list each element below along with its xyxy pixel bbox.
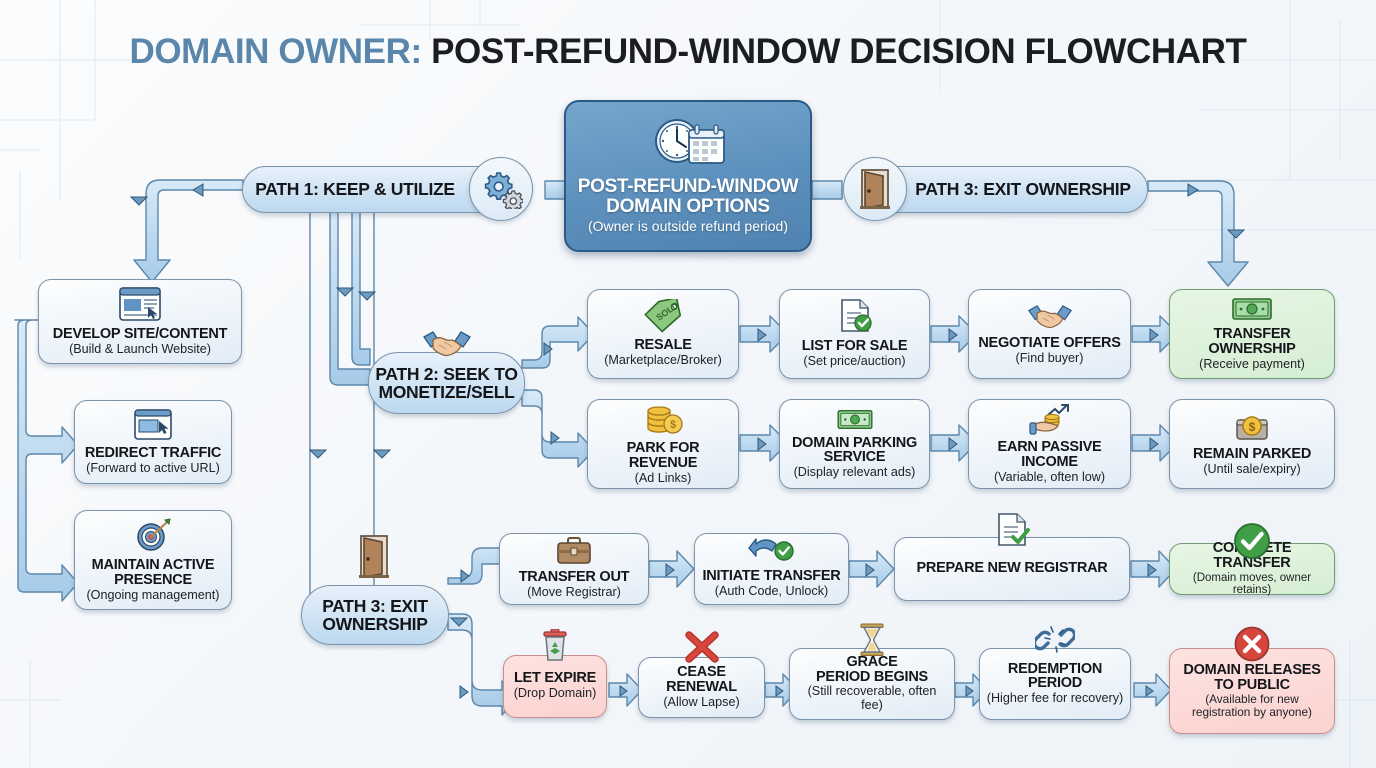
node-domain-releases[interactable]: DOMAIN RELEASES TO PUBLIC (Available for… [1169,648,1335,734]
node-subtitle: (Display relevant ads) [794,466,916,479]
node-grace-period[interactable]: GRACE PERIOD BEGINS (Still recoverable, … [789,648,955,720]
handshake-icon [1027,301,1073,335]
trash-recycle-icon [538,629,572,667]
node-subtitle: (Ad Links) [635,472,692,485]
node-subtitle: (Allow Lapse) [663,696,739,709]
hub-subtitle: (Owner is outside refund period) [588,219,788,234]
red-x-icon [683,630,721,668]
node-title: LIST FOR SALE [802,339,908,354]
node-subtitle: (Auth Code, Unlock) [715,585,828,598]
node-title: REDIRECT TRAFFIC [85,446,221,461]
node-subtitle: (Find buyer) [1016,352,1084,365]
path-pill-keep-utilize[interactable]: PATH 1: KEEP & UTILIZE [242,166,504,213]
node-park-for-revenue[interactable]: $ PARK FOR REVENUE (Ad Links) [587,399,739,489]
gears-icon [469,157,533,221]
node-subtitle: (Higher fee for recovery) [987,692,1123,705]
node-subtitle: (Domain moves, owner retains) [1176,572,1328,596]
node-earn-passive-income[interactable]: EARN PASSIVE INCOME (Variable, often low… [968,399,1131,489]
coins-icon: $ [642,402,684,440]
document-check-icon [836,298,874,338]
node-title: EARN PASSIVE INCOME [975,440,1124,470]
node-domain-parking-service[interactable]: DOMAIN PARKING SERVICE (Display relevant… [779,399,930,489]
node-list-for-sale[interactable]: LIST FOR SALE (Set price/auction) [779,289,930,379]
node-subtitle: (Marketplace/Broker) [604,354,722,367]
svg-text:$: $ [1249,420,1256,434]
node-initiate-transfer[interactable]: INITIATE TRANSFER (Auth Code, Unlock) [694,533,849,605]
hub-title: POST-REFUND-WINDOW DOMAIN OPTIONS [578,177,798,217]
open-door-icon [355,533,393,586]
node-title: NEGOTIATE OFFERS [978,336,1120,351]
node-subtitle: (Receive payment) [1199,358,1305,371]
check-circle-icon [1232,521,1272,565]
money-box-icon: $ [1234,410,1270,446]
hand-coins-growth-icon [1028,403,1072,439]
path-pill-exit-ownership-top[interactable]: PATH 3: EXIT OWNERSHIP [872,166,1148,213]
page-title-rest: POST-REFUND-WINDOW DECISION FLOWCHART [422,32,1247,71]
node-transfer-ownership[interactable]: TRANSFER OWNERSHIP (Receive payment) [1169,289,1335,379]
page-title: DOMAIN OWNER: POST-REFUND-WINDOW DECISIO… [0,32,1376,72]
node-subtitle: (Build & Launch Website) [69,343,211,356]
path-pill-exit-ownership-top-label: PATH 3: EXIT OWNERSHIP [915,180,1130,198]
hourglass-icon [858,623,886,661]
node-subtitle: (Ongoing management) [86,589,219,602]
node-let-expire[interactable]: LET EXPIRE (Drop Domain) [503,655,607,718]
clock-calendar-icon [649,116,727,177]
node-title: PARK FOR REVENUE [594,441,732,471]
node-title: CEASE RENEWAL [645,665,758,695]
node-complete-transfer[interactable]: COMPLETE TRANSFER (Domain moves, owner r… [1169,543,1335,595]
svg-text:$: $ [670,419,676,431]
node-redemption-period[interactable]: REDEMPTION PERIOD (Higher fee for recove… [979,648,1131,720]
node-title: PREPARE NEW REGISTRAR [916,561,1107,576]
node-subtitle: (Available for new registration by anyon… [1192,693,1312,718]
node-title: MAINTAIN ACTIVE PRESENCE [92,558,215,588]
browser-redirect-icon [133,408,173,445]
node-title: LET EXPIRE [514,671,596,686]
broken-chain-icon [1035,623,1075,659]
page-title-highlight: DOMAIN OWNER: [129,32,421,71]
node-prepare-new-registrar[interactable]: PREPARE NEW REGISTRAR [894,537,1130,601]
node-title: INITIATE TRANSFER [702,569,840,584]
path-pill-exit-ownership-bottom-label: PATH 3: EXIT OWNERSHIP [322,597,428,633]
flowchart-canvas: DOMAIN OWNER: POST-REFUND-WINDOW DECISIO… [0,0,1376,768]
x-circle-icon [1232,624,1272,668]
node-title: REMAIN PARKED [1193,447,1311,462]
node-remain-parked[interactable]: $ REMAIN PARKED (Until sale/expiry) [1169,399,1335,489]
document-check-icon [993,512,1031,552]
browser-window-icon [118,286,162,326]
node-maintain-presence[interactable]: MAINTAIN ACTIVE PRESENCE (Ongoing manage… [74,510,232,610]
node-subtitle: (Still recoverable, often fee) [796,685,948,712]
node-title: REDEMPTION PERIOD [1008,662,1102,692]
node-title: TRANSFER OWNERSHIP [1176,327,1328,357]
handshake-icon [422,327,472,364]
node-negotiate-offers[interactable]: NEGOTIATE OFFERS (Find buyer) [968,289,1131,379]
target-dart-icon [134,517,172,557]
node-redirect-traffic[interactable]: REDIRECT TRAFFIC (Forward to active URL) [74,400,232,484]
path-pill-exit-ownership-bottom[interactable]: PATH 3: EXIT OWNERSHIP [301,585,449,645]
node-subtitle: (Variable, often low) [994,471,1105,484]
node-cease-renewal[interactable]: CEASE RENEWAL (Allow Lapse) [638,657,765,718]
node-subtitle: (Move Registrar) [527,586,621,599]
banknote-icon [836,408,874,435]
path-pill-monetize-sell-label: PATH 2: SEEK TO MONETIZE/SELL [375,365,517,401]
transfer-arrow-check-icon [748,538,796,568]
node-subtitle: (Set price/auction) [803,355,905,368]
node-transfer-out[interactable]: TRANSFER OUT (Move Registrar) [499,533,649,605]
path-pill-keep-utilize-label: PATH 1: KEEP & UTILIZE [255,180,455,198]
node-resale[interactable]: SOLD RESALE (Marketplace/Broker) [587,289,739,379]
node-title: DEVELOP SITE/CONTENT [53,327,227,342]
sold-tag-icon: SOLD [642,299,684,337]
node-develop-site[interactable]: DEVELOP SITE/CONTENT (Build & Launch Web… [38,279,242,364]
node-title: RESALE [634,338,691,353]
node-title: TRANSFER OUT [519,570,630,585]
suitcase-icon [555,537,593,569]
open-door-icon [843,157,907,221]
node-subtitle: (Until sale/expiry) [1203,463,1300,476]
node-title: DOMAIN PARKING SERVICE [792,436,917,466]
node-subtitle: (Forward to active URL) [86,462,220,475]
node-subtitle: (Drop Domain) [514,687,597,700]
hub-node-post-refund-window[interactable]: POST-REFUND-WINDOW DOMAIN OPTIONS (Owner… [564,100,812,252]
banknote-icon [1231,296,1273,326]
